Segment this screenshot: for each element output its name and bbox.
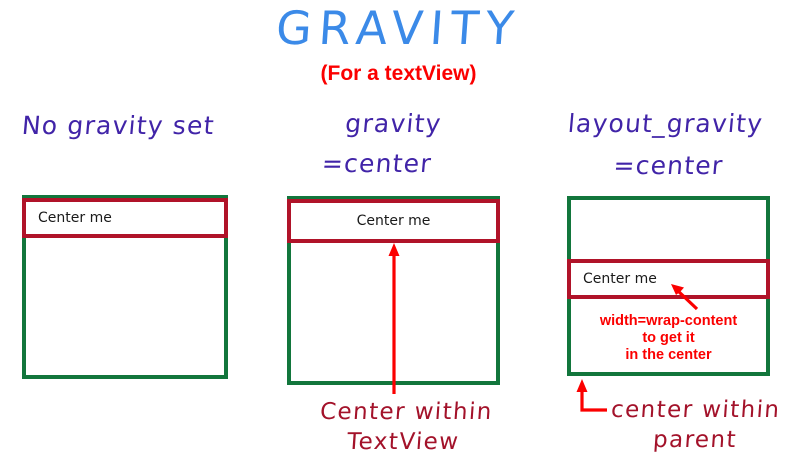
textview-gravity: Center me [287, 199, 500, 243]
panel-heading-layout-gravity-line1: layout_gravity [567, 108, 765, 139]
diagram-canvas: GRAVITY (For a textView) No gravity set … [0, 0, 797, 474]
page-subtitle: (For a textView) [0, 62, 797, 86]
arrow-center-within-parent [577, 379, 608, 410]
textview-label-layout-gravity: Center me [583, 271, 657, 287]
caption-layout-gravity-line1: center within [610, 396, 781, 426]
annotation-wrap-content: width=wrap-content to get it in the cent… [567, 313, 770, 364]
caption-gravity-line1: Center within [319, 398, 494, 428]
annotation-line-1: width=wrap-content [567, 313, 770, 330]
panel-heading-gravity-line2: =center [321, 148, 434, 179]
annotation-line-3: in the center [567, 347, 770, 364]
textview-layout-gravity: Center me [567, 259, 770, 299]
panel-heading-layout-gravity-line2: =center [566, 150, 772, 181]
textview-label-no-gravity: Center me [38, 210, 112, 226]
caption-layout-gravity-line2: parent [652, 426, 738, 456]
textview-no-gravity: Center me [22, 198, 228, 238]
page-title: GRAVITY [0, 4, 797, 52]
textview-label-gravity: Center me [357, 213, 431, 229]
annotation-line-2: to get it [567, 330, 770, 347]
panel-heading-no-gravity: No gravity set [21, 110, 216, 141]
panel-heading-gravity-line1: gravity [286, 108, 502, 139]
caption-gravity-line2: TextView [346, 428, 460, 458]
